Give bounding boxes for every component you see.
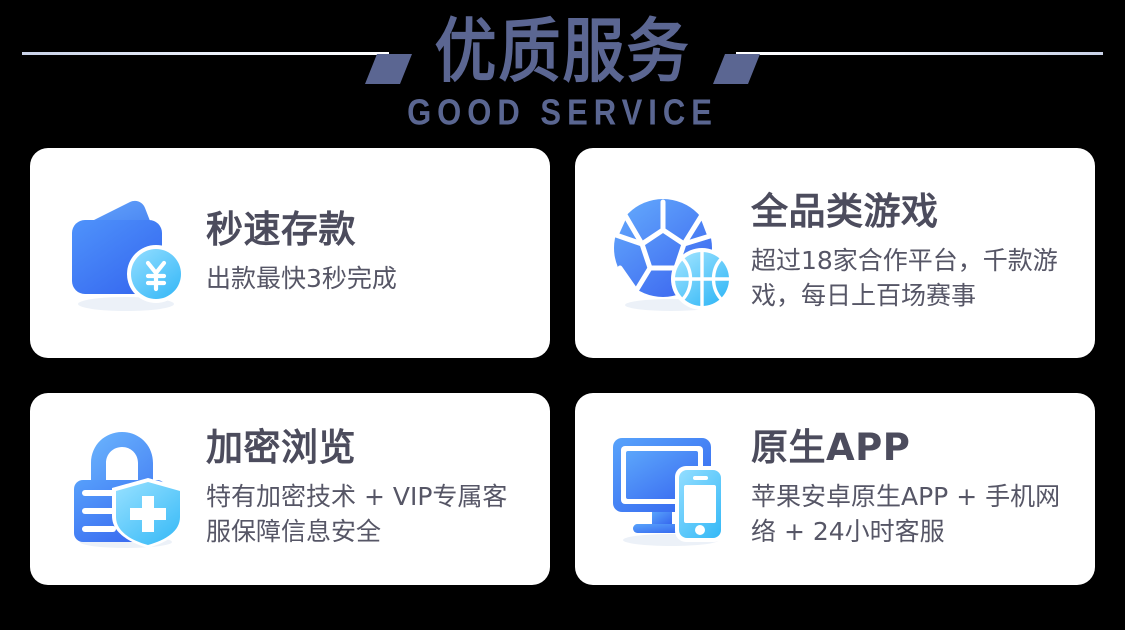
service-card-grid: 秒速存款 出款最快3秒完成 bbox=[30, 148, 1095, 585]
page-title: 优质服务 bbox=[0, 8, 1125, 95]
card-text-block: 全品类游戏 超过18家合作平台，千款游戏，每日上百场赛事 bbox=[741, 192, 1077, 314]
service-card-deposit[interactable]: 秒速存款 出款最快3秒完成 bbox=[30, 148, 550, 358]
wallet-yen-icon bbox=[56, 186, 196, 321]
card-subtitle: 苹果安卓原生APP + 手机网络 + 24小时客服 bbox=[751, 479, 1077, 550]
card-title: 秒速存款 bbox=[206, 210, 532, 251]
card-text-block: 加密浏览 特有加密技术 + VIP专属客服保障信息安全 bbox=[196, 428, 532, 550]
lock-shield-icon bbox=[56, 422, 196, 557]
header-title-block: 优质服务 GOOD SERVICE bbox=[0, 8, 1125, 125]
card-subtitle: 特有加密技术 + VIP专属客服保障信息安全 bbox=[206, 479, 532, 550]
soccer-basketball-icon bbox=[601, 186, 741, 321]
monitor-phone-icon bbox=[601, 422, 741, 557]
card-title: 加密浏览 bbox=[206, 428, 532, 469]
card-text-block: 原生APP 苹果安卓原生APP + 手机网络 + 24小时客服 bbox=[741, 428, 1077, 550]
service-card-native-app[interactable]: 原生APP 苹果安卓原生APP + 手机网络 + 24小时客服 bbox=[575, 393, 1095, 585]
card-subtitle: 出款最快3秒完成 bbox=[206, 261, 532, 297]
page-header: 优质服务 GOOD SERVICE bbox=[0, 0, 1125, 150]
service-card-encryption[interactable]: 加密浏览 特有加密技术 + VIP专属客服保障信息安全 bbox=[30, 393, 550, 585]
page-subtitle: GOOD SERVICE bbox=[0, 94, 1125, 131]
service-card-games[interactable]: 全品类游戏 超过18家合作平台，千款游戏，每日上百场赛事 bbox=[575, 148, 1095, 358]
card-title: 全品类游戏 bbox=[751, 192, 1077, 233]
card-title: 原生APP bbox=[751, 428, 1077, 469]
card-text-block: 秒速存款 出款最快3秒完成 bbox=[196, 210, 532, 296]
card-subtitle: 超过18家合作平台，千款游戏，每日上百场赛事 bbox=[751, 243, 1077, 314]
